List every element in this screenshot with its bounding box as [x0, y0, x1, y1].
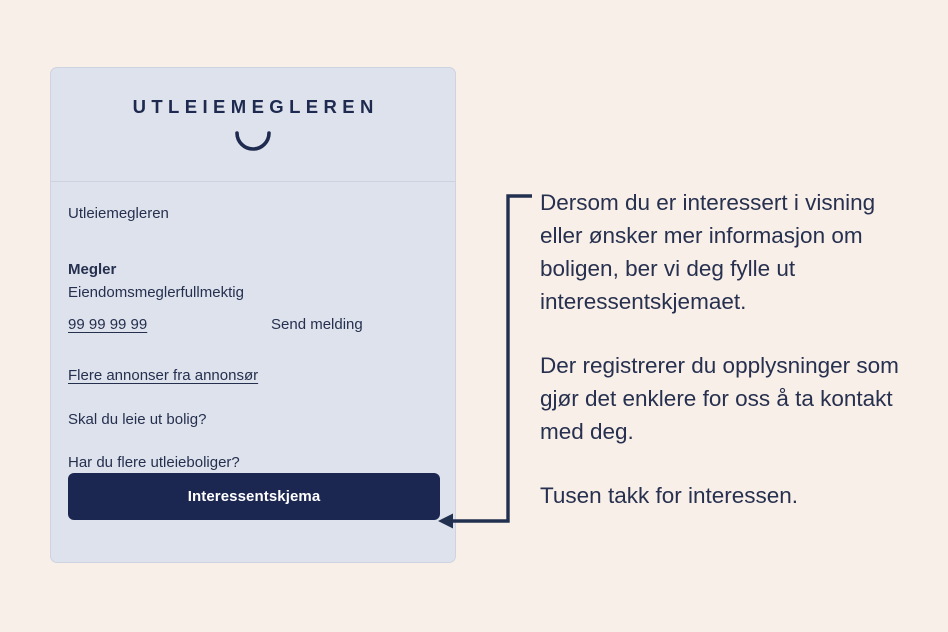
contact-row: 99 99 99 99 Send melding	[68, 315, 438, 335]
brand-wordmark: UTLEIEMEGLEREN	[127, 98, 379, 117]
agency-name: Utleiemegleren	[68, 204, 438, 224]
agent-role-subtitle: Eiendomsmeglerfullmektig	[68, 283, 438, 303]
annotation-text-block: Dersom du er interessert i visning eller…	[540, 186, 910, 513]
agent-role-title: Megler	[68, 260, 438, 280]
smile-arc-icon	[234, 131, 272, 151]
phone-number-link[interactable]: 99 99 99 99	[68, 315, 271, 335]
card-body: Utleiemegleren Megler Eiendomsmeglerfull…	[51, 182, 455, 562]
more-ads-from-advertiser-link[interactable]: Flere annonser fra annonsør	[68, 366, 438, 386]
card-header: UTLEIEMEGLEREN	[51, 68, 455, 182]
send-message-link[interactable]: Send melding	[271, 315, 363, 335]
broker-contact-card: UTLEIEMEGLEREN Utleiemegleren Megler Eie…	[50, 67, 456, 563]
annotation-paragraph-1: Dersom du er interessert i visning eller…	[540, 186, 910, 318]
annotation-paragraph-2: Der registrerer du opplysninger som gjør…	[540, 349, 910, 448]
interest-form-button[interactable]: Interessentskjema	[68, 473, 440, 520]
rent-out-property-link[interactable]: Skal du leie ut bolig?	[68, 410, 438, 430]
annotation-paragraph-3: Tusen takk for interessen.	[540, 479, 910, 512]
more-rental-properties-link[interactable]: Har du flere utleieboliger?	[68, 453, 438, 473]
